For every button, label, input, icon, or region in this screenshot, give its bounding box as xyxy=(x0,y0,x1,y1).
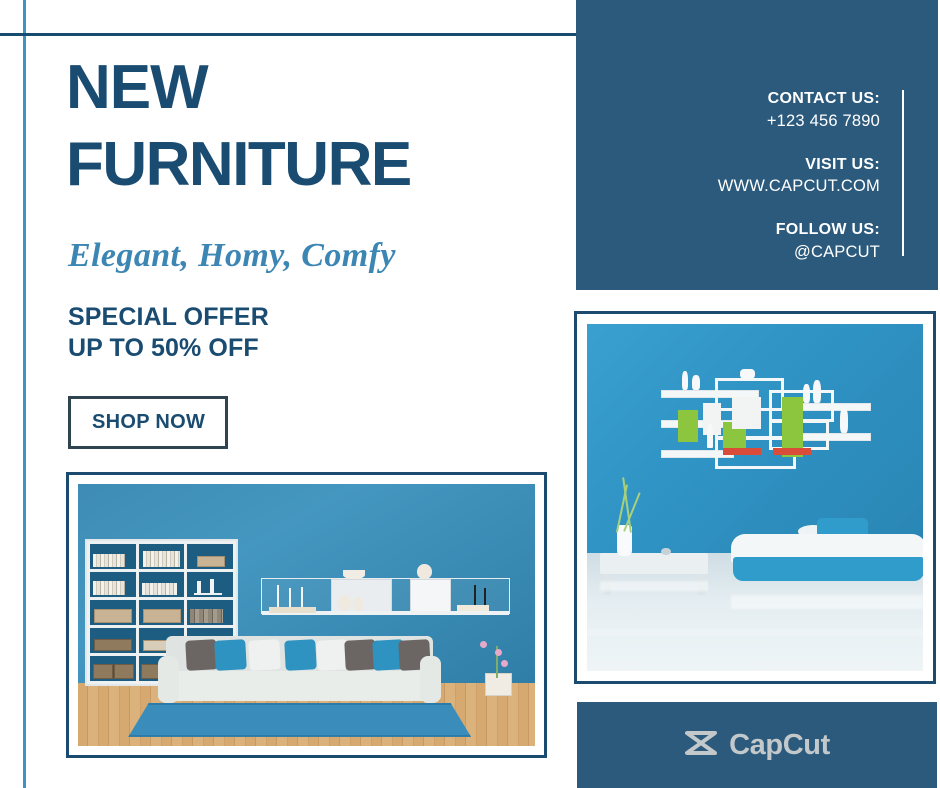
offer-line-2: UP TO 50% OFF xyxy=(68,333,269,364)
capcut-wordmark: CapCut xyxy=(729,729,830,762)
contact-value-website[interactable]: WWW.CAPCUT.COM xyxy=(718,175,880,198)
main-image-frame xyxy=(66,472,547,758)
contact-panel: CONTACT US: +123 456 7890 VISIT US: WWW.… xyxy=(576,0,938,290)
contact-vertical-divider xyxy=(902,90,904,256)
living-room-illustration xyxy=(78,484,535,746)
contact-label-social: FOLLOW US: xyxy=(718,219,880,241)
capcut-branding-panel: CapCut xyxy=(577,702,937,788)
contact-label-website: VISIT US: xyxy=(718,154,880,176)
contact-block-website: VISIT US: WWW.CAPCUT.COM xyxy=(718,154,880,199)
page-title: NEW FURNITURE xyxy=(66,58,536,196)
contact-label-phone: CONTACT US: xyxy=(718,88,880,110)
headline-line-2: FURNITURE xyxy=(66,135,536,196)
left-content-column: NEW FURNITURE Elegant, Homy, Comfy SPECI… xyxy=(0,0,576,788)
shop-now-button[interactable]: SHOP NOW xyxy=(68,396,228,449)
subtitle: Elegant, Homy, Comfy xyxy=(68,237,396,275)
contact-block-phone: CONTACT US: +123 456 7890 xyxy=(718,88,880,133)
contact-value-social[interactable]: @CAPCUT xyxy=(718,241,880,264)
poster-canvas: NEW FURNITURE Elegant, Homy, Comfy SPECI… xyxy=(0,0,940,788)
capcut-logo-lockup: CapCut xyxy=(684,729,830,762)
contact-value-phone[interactable]: +123 456 7890 xyxy=(718,110,880,133)
capcut-bowtie-icon xyxy=(684,730,718,761)
contact-list: CONTACT US: +123 456 7890 VISIT US: WWW.… xyxy=(718,88,880,264)
headline-line-1: NEW xyxy=(66,53,208,122)
offer-text: SPECIAL OFFER UP TO 50% OFF xyxy=(68,302,269,364)
bedroom-illustration xyxy=(587,324,923,671)
offer-line-1: SPECIAL OFFER xyxy=(68,302,269,333)
contact-block-social: FOLLOW US: @CAPCUT xyxy=(718,219,880,264)
side-image xyxy=(587,324,923,671)
side-image-frame xyxy=(574,311,936,684)
main-image xyxy=(78,484,535,746)
